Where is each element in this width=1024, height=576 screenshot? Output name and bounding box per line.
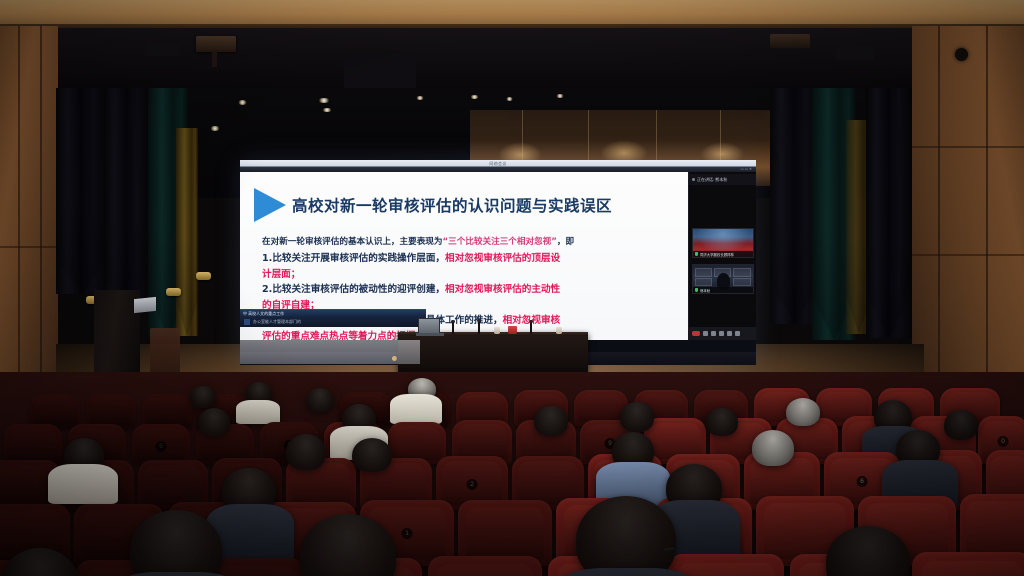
auditorium-photo: 网络会议 ▭ ▭ ✕ 高校对新一轮审核评估的认识问题与实践误区 在对新一轮审核评… [0,0,1024,576]
seat-number: 1 [402,528,413,539]
attendee-head [944,410,978,440]
red-cup [508,326,517,334]
share-icon[interactable] [727,331,732,336]
background-window[interactable]: 中 高校人文的重点工作 办公室能人才管理本部门的 [240,309,426,327]
speaker-placard [134,297,156,313]
attendee-head [190,386,216,408]
attendee-body [48,464,118,504]
mic-icon [695,252,698,256]
wall-speaker-icon [955,48,968,61]
slide-bullet-cont: 计层面； [262,267,672,283]
stage-banner [240,340,420,364]
bullet-red-part: 相对忽视审核评估的顶层设 [445,253,560,264]
attendee-head [620,402,654,432]
bullet-red-part: 相对忽视审核评估的主动性 [445,284,560,295]
stage-light-glint [210,126,220,131]
microphone-icon [452,322,454,334]
seat[interactable]: 5 [132,424,190,464]
background-window-row-text: 办公室能人才管理本部门的 [253,319,301,325]
stage-curtain-left-gold [176,128,198,336]
window-icon [244,319,250,325]
window-title: 网络会议 [489,161,506,167]
stage-light-glint [470,95,479,99]
stage-light-glint [238,100,247,105]
leave-meeting-icon[interactable] [692,331,700,336]
attendee-head [306,388,334,412]
more-icon[interactable] [735,331,740,336]
seat[interactable] [4,424,62,464]
meeting-participants-panel[interactable]: 正在讲话: 熊本秋 同济大学副校长顾祥林 [688,172,756,340]
stage-curtain-left [104,88,150,312]
curtain-tieback [196,272,211,280]
slide-bullet: 2.比较关注审核评估的被动性的迎评创建，相对忽视审核评估的主动性 [262,282,672,298]
participant-name: 同济大学副校长顾祥林 [700,252,734,257]
stage-light-glint [318,98,330,103]
attendee-body [236,400,280,424]
speaker-indicator-icon [692,178,695,181]
seat-number: 5 [156,441,167,452]
flown-speaker [146,44,180,56]
seat[interactable]: 3 [668,554,784,576]
window-titlebar: 网络会议 ▭ ▭ ✕ [240,160,756,172]
presentation-slide: 高校对新一轮审核评估的认识问题与实践误区 在对新一轮审核评估的基本认识上，主要表… [240,172,688,340]
seat[interactable] [30,394,80,428]
paper-cup [556,327,562,334]
active-speaker-label: 正在讲话: 熊本秋 [697,177,727,183]
curtain-tieback [166,288,181,296]
attendee-head [198,408,230,436]
attendee-head-foreground [576,496,676,576]
attendee-head [706,408,738,436]
microphone-icon [478,321,480,334]
seat[interactable] [86,394,136,428]
slide-title: 高校对新一轮审核评估的认识问题与实践误区 [292,194,612,216]
seat[interactable] [428,556,542,576]
seat-number: 0 [998,436,1009,447]
right-wood-wall [912,26,1024,378]
participant-name-badge: 熊本秋 [693,287,753,293]
stage-curtain-left [56,88,108,294]
triangle-arrow-icon [254,188,286,222]
stage-light-glint [556,94,564,98]
mic-icon [695,288,698,292]
window-controls[interactable]: ▭ ▭ ✕ [741,167,753,171]
attendee-head [534,406,568,436]
slide-title-row: 高校对新一轮审核评估的认识问题与实践误区 [254,188,612,222]
stage-light-glint [506,97,513,101]
participant-thumbnail[interactable]: 同济大学副校长顾祥林 [692,228,754,258]
lead-prefix: 在对新一轮审核评估的基本认识上，主要表现为 [262,237,442,247]
audience-seating: 5 2 9 7 0 0 2 4 6 [0,372,1024,576]
stage-light-glint [322,108,332,112]
participants-icon[interactable] [719,331,724,336]
laptop [418,318,440,334]
stage-chair [150,328,180,374]
attendee-body [390,394,442,424]
stage-curtain-right [866,88,912,338]
active-speaker-header: 正在讲话: 熊本秋 [689,174,756,185]
slide-lead-paragraph: 在对新一轮审核评估的基本认识上，主要表现为“三个比较关注三个相对忽视”，即 [262,236,672,249]
lead-suffix: ，即 [557,237,574,247]
attendee-head [352,438,392,472]
seat[interactable] [912,552,1024,576]
video-icon[interactable] [711,331,716,336]
paper-cup [494,327,500,334]
bullet-black-part: 2.比较关注审核评估的被动性的迎评创建， [262,284,445,295]
attendee-head [752,430,794,466]
background-window-title: 中 高校人文的重点工作 [243,311,284,317]
lead-highlight: “三个比较关注三个相对忽视” [442,237,556,247]
ceiling-projector-secondary-icon [770,34,810,48]
flown-speaker [344,52,416,88]
attendee-head [786,398,820,426]
bullet-black-part: 1.比较关注开展审核评估的实践操作层面， [262,253,445,264]
presenter-table [398,332,588,374]
left-wood-wall [0,26,58,378]
participant-thumbnail[interactable]: 熊本秋 [692,264,754,294]
seat[interactable] [142,394,192,428]
mic-icon[interactable] [703,331,708,336]
participant-name: 熊本秋 [700,288,710,293]
attendee-head [286,434,326,470]
flown-speaker [836,46,874,60]
seat-number: 2 [467,479,478,490]
seat-number: 6 [857,476,868,487]
participant-name-badge: 同济大学副校长顾祥林 [693,251,753,257]
slide-bullet: 1.比较关注开展审核评估的实践操作层面，相对忽视审核评估的顶层设 [262,251,672,267]
meeting-toolbar[interactable] [689,327,756,340]
stage-light-glint [416,96,424,100]
ceiling-projector-icon [196,36,236,52]
background-window-row[interactable]: 办公室能人才管理本部门的 [244,319,301,325]
microphone-icon [530,322,532,334]
